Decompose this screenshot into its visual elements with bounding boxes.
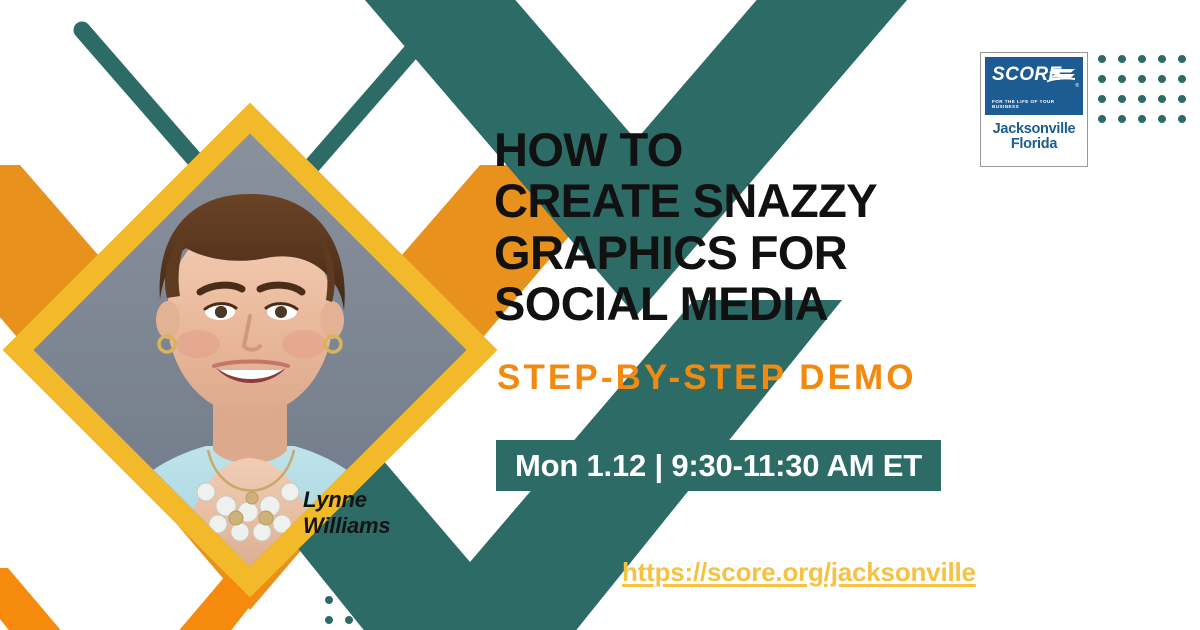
dot (325, 576, 333, 584)
score-tagline: FOR THE LIFE OF YOUR BUSINESS (992, 99, 1083, 109)
dot (1118, 95, 1126, 103)
dot (1098, 115, 1106, 123)
dot (1158, 55, 1166, 63)
headline-line-4: SOCIAL MEDIA (494, 278, 1034, 329)
dot (325, 556, 333, 564)
dot (425, 616, 433, 624)
dot (365, 596, 373, 604)
dot (1178, 115, 1186, 123)
dot (425, 576, 433, 584)
headline-line-3: GRAPHICS FOR (494, 227, 1034, 278)
dot (405, 576, 413, 584)
speaker-first-name: Lynne (303, 487, 473, 513)
dot (405, 616, 413, 624)
dot (1098, 75, 1106, 83)
dot (1118, 75, 1126, 83)
dot (345, 556, 353, 564)
dot (445, 596, 453, 604)
dot (1138, 55, 1146, 63)
dot (325, 596, 333, 604)
dot (425, 556, 433, 564)
dot (385, 576, 393, 584)
dot (1158, 75, 1166, 83)
dot-grid-bottom-center (325, 556, 453, 624)
dot (425, 596, 433, 604)
speaker-name: Lynne Williams (303, 487, 473, 539)
dot (385, 596, 393, 604)
dot (445, 556, 453, 564)
dot (365, 576, 373, 584)
dot (345, 596, 353, 604)
dot (385, 616, 393, 624)
dot (345, 616, 353, 624)
dot (345, 576, 353, 584)
dot (1158, 95, 1166, 103)
dot (1138, 115, 1146, 123)
registered-mark-icon: ® (1075, 83, 1079, 89)
dot (1098, 95, 1106, 103)
datetime-banner: Mon 1.12 | 9:30-11:30 AM ET (496, 440, 941, 491)
dot (1118, 115, 1126, 123)
score-logo-banner: SCORE ® FOR THE LIFE OF YOUR BUSINESS (985, 57, 1083, 115)
datetime-text: Mon 1.12 | 9:30-11:30 AM ET (515, 448, 922, 484)
dot (365, 556, 373, 564)
dot (1118, 55, 1126, 63)
dot (1178, 95, 1186, 103)
dot (1138, 95, 1146, 103)
headline-line-1: HOW TO (494, 124, 1034, 175)
registration-link[interactable]: https://score.org/jacksonville (622, 557, 976, 588)
dot (1178, 55, 1186, 63)
page-title: HOW TO CREATE SNAZZY GRAPHICS FOR SOCIAL… (494, 124, 1034, 330)
dot (445, 576, 453, 584)
dot (1158, 115, 1166, 123)
dot (385, 556, 393, 564)
dot (1178, 75, 1186, 83)
dot (405, 596, 413, 604)
dot (325, 616, 333, 624)
speaker-last-name: Williams (303, 513, 473, 539)
dot (1138, 75, 1146, 83)
promo-poster: Lynne Williams SCORE ® FOR THE LIFE OF Y… (0, 0, 1200, 630)
headline-line-2: CREATE SNAZZY (494, 175, 1034, 226)
dot (1098, 55, 1106, 63)
dot-grid-top-right (1098, 55, 1186, 123)
score-swoosh-icon (1045, 65, 1077, 85)
subtitle: STEP-BY-STEP DEMO (497, 358, 917, 398)
dot (365, 616, 373, 624)
dot (405, 556, 413, 564)
dot (445, 616, 453, 624)
